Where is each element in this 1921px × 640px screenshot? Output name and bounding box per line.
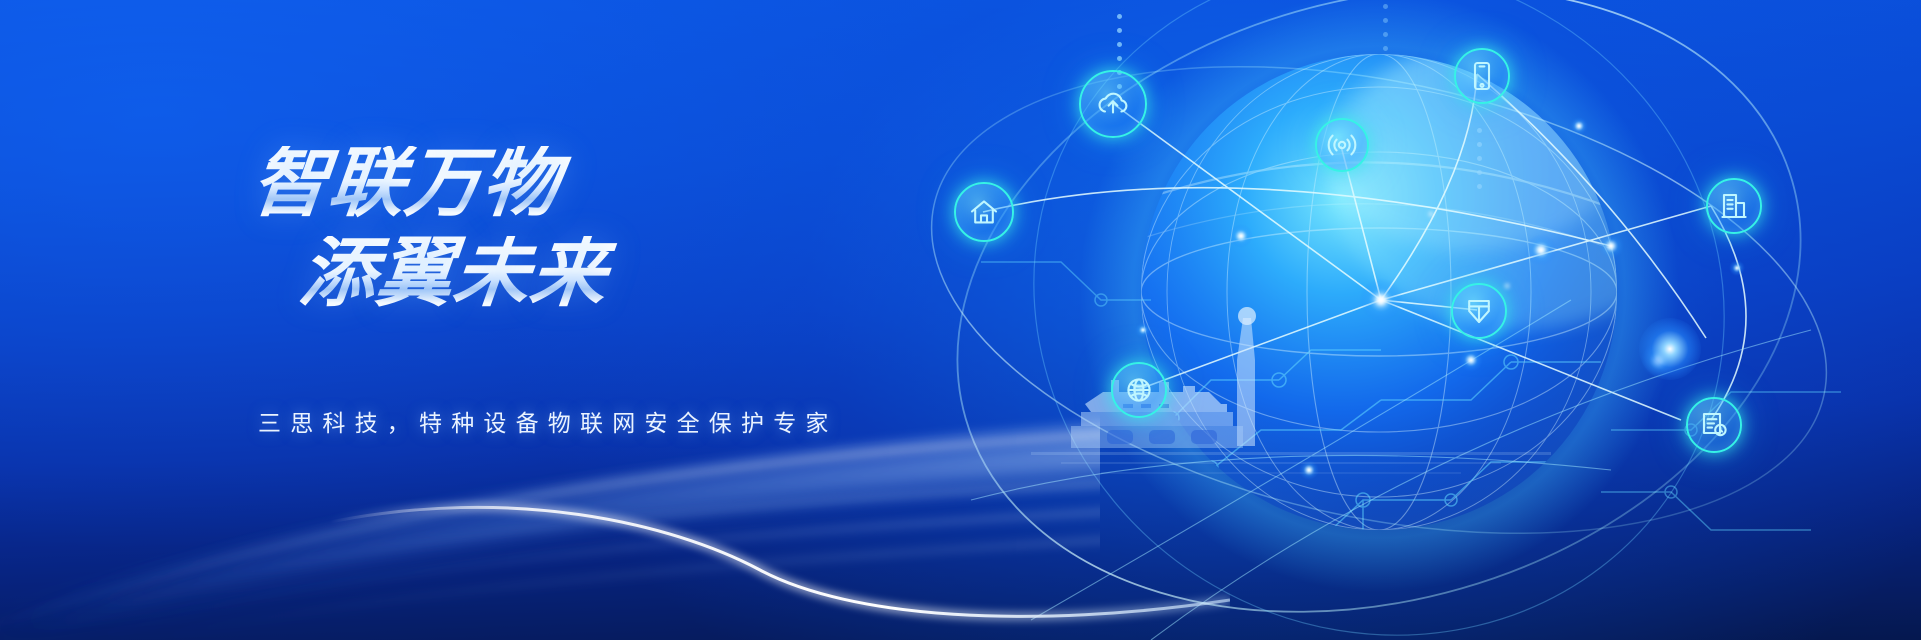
globe-network-icon xyxy=(1125,376,1153,404)
circuit-traces-outer xyxy=(981,262,1841,530)
building-node[interactable] xyxy=(1706,178,1762,234)
globe-illustration xyxy=(911,0,1921,640)
cloud-upload-icon xyxy=(1096,89,1130,119)
headline-line-1: 智联万物 xyxy=(248,146,896,222)
mobile-phone-node[interactable] xyxy=(1454,48,1510,104)
connection-arcs xyxy=(983,74,1746,420)
sweep-line-6 xyxy=(150,538,1100,640)
horizon-shimmer xyxy=(1031,452,1551,474)
sweep-line-2 xyxy=(0,450,1100,640)
sweep-line-3 xyxy=(0,422,1100,618)
globe-sphere xyxy=(1141,54,1617,530)
wifi-signal-node[interactable] xyxy=(1315,118,1369,172)
sweep-band xyxy=(0,438,1100,640)
home-node[interactable] xyxy=(954,182,1014,242)
wifi-signal-icon xyxy=(1326,131,1358,159)
shield-node[interactable] xyxy=(1451,283,1507,339)
vertical-dots-left xyxy=(1117,14,1122,98)
home-icon xyxy=(969,198,999,226)
light-trails xyxy=(0,410,1100,640)
shield-check-icon xyxy=(1466,297,1492,325)
circuit-traces xyxy=(1151,350,1601,560)
building-icon xyxy=(1721,192,1747,220)
subtitle-text: 三思科技，特种设备物联网安全保护专家 xyxy=(258,404,838,438)
globe-grid xyxy=(1141,54,1617,530)
connection-arcs-soft xyxy=(971,300,1811,640)
headline-line-2: 添翼未来 xyxy=(296,236,896,312)
pavilion-group xyxy=(1071,307,1256,448)
sweep-line-1 xyxy=(0,432,1100,636)
document-report-node[interactable] xyxy=(1686,397,1742,453)
cloud-upload-node[interactable] xyxy=(1079,70,1147,138)
pavilion-tower-silhouette xyxy=(911,388,1069,432)
network-sparks xyxy=(1238,124,1662,473)
hero-banner: 智联万物 添翼未来 三思科技，特种设备物联网安全保护专家 xyxy=(0,0,1921,640)
mobile-phone-icon xyxy=(1471,61,1493,91)
document-report-icon xyxy=(1700,411,1728,439)
headline-block: 智联万物 添翼未来 xyxy=(252,146,892,312)
light-hook-curve xyxy=(330,430,1230,640)
sweep-line-4 xyxy=(30,482,1100,640)
vertical-dots-far-right xyxy=(1383,4,1388,60)
orbit-rings xyxy=(911,0,1875,640)
globe-halo xyxy=(1079,0,1679,592)
sweep-line-5 xyxy=(90,510,1100,640)
vertical-dots-right xyxy=(1477,128,1482,198)
globe-highlight xyxy=(1321,30,1711,330)
network-glow-points xyxy=(1135,117,1745,480)
globe-scene xyxy=(911,0,1921,640)
light-dot-node xyxy=(1639,318,1701,380)
globe-network-node[interactable] xyxy=(1111,362,1167,418)
